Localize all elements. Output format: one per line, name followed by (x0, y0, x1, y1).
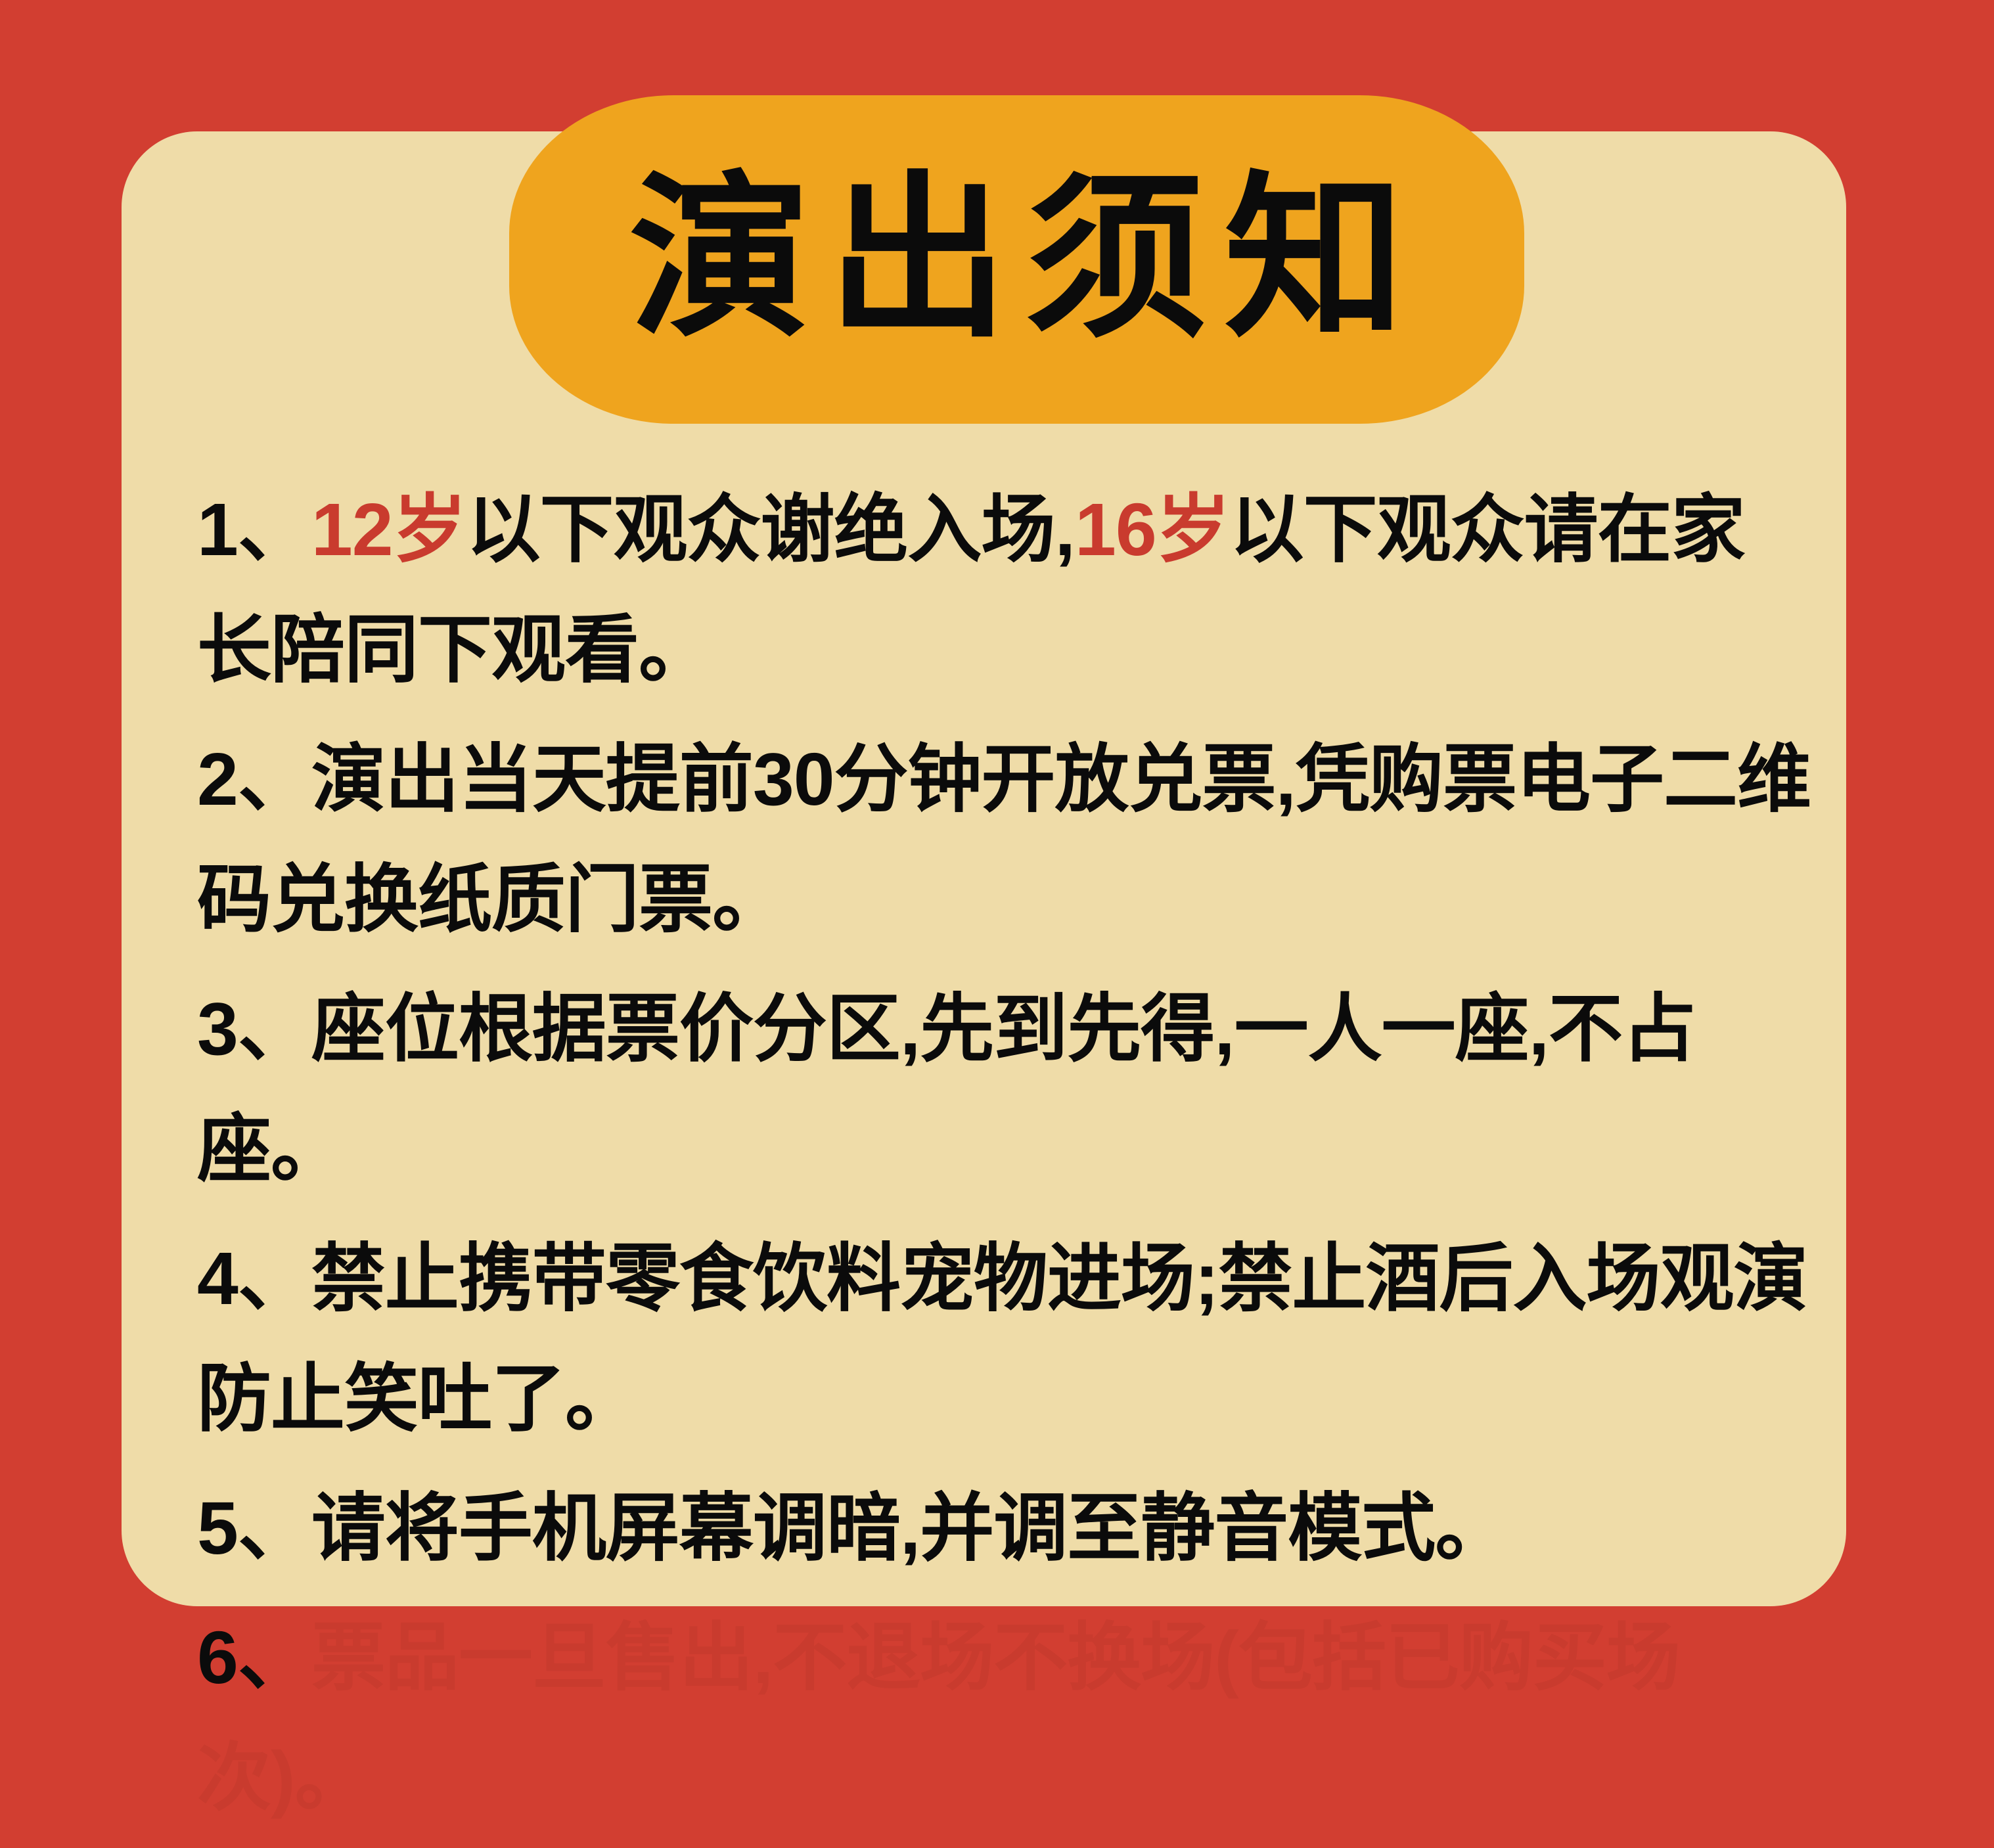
rule-accent-text: 票品一旦售出,不退场不换场(包括已购买场次)。 (197, 1616, 1680, 1819)
rule-item: 4、禁止携带零食饮料宠物进场;禁止酒后入场观演防止笑吐了。 (197, 1219, 1813, 1459)
rule-index: 1、 (197, 488, 311, 571)
rule-text: 座位根据票价分区,先到先得,一人一座,不占座。 (197, 987, 1696, 1190)
rule-index: 4、 (197, 1237, 311, 1320)
rule-text: 禁止携带零食饮料宠物进场;禁止酒后入场观演防止笑吐了。 (197, 1237, 1807, 1440)
rule-text: 以下观众谢绝入场, (466, 488, 1075, 571)
rule-accent-text: 12岁 (311, 488, 466, 571)
page-title: 演出须知 (611, 171, 1422, 348)
rule-index: 6、 (197, 1616, 311, 1699)
rule-item: 5、请将手机屏幕调暗,并调至静音模式。 (197, 1468, 1813, 1589)
performance-notice-rules: 1、12岁以下观众谢绝入场,16岁以下观众请在家长陪同下观看。2、演出当天提前3… (197, 470, 1813, 1848)
rule-item: 1、12岁以下观众谢绝入场,16岁以下观众请在家长陪同下观看。 (197, 470, 1813, 710)
rule-text: 演出当天提前30分钟开放兑票,凭购票电子二维码兑换纸质门票。 (197, 738, 1811, 941)
rule-text: 请将手机屏幕调暗,并调至静音模式。 (311, 1487, 1508, 1569)
rule-item: 2、演出当天提前30分钟开放兑票,凭购票电子二维码兑换纸质门票。 (197, 719, 1813, 960)
rule-index: 5、 (197, 1487, 311, 1569)
rule-item: 3、座位根据票价分区,先到先得,一人一座,不占座。 (197, 969, 1813, 1209)
rule-item: 6、票品一旦售出,不退场不换场(包括已购买场次)。 (197, 1598, 1813, 1838)
rule-index: 2、 (197, 738, 311, 821)
title-badge: 演出须知 (509, 95, 1524, 424)
rule-index: 3、 (197, 987, 311, 1070)
rule-accent-text: 16岁 (1075, 488, 1230, 571)
